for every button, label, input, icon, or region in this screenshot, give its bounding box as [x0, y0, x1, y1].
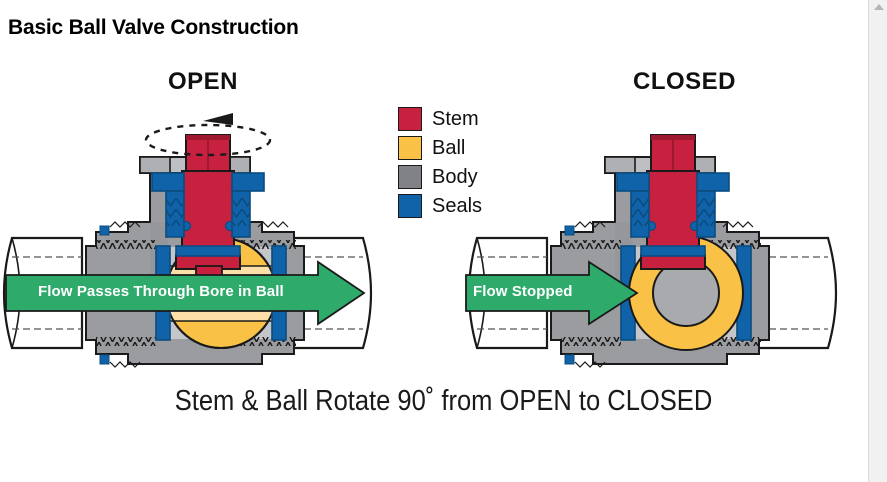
legend-label-seals: Seals: [432, 196, 482, 216]
legend-swatch-seals: [398, 194, 422, 218]
legend-swatch-ball: [398, 136, 422, 160]
state-label-open: OPEN: [168, 68, 238, 96]
legend-label-stem: Stem: [432, 109, 479, 129]
legend-label-body: Body: [432, 167, 478, 187]
valve-closed: [466, 135, 836, 367]
legend-item-seals: Seals: [398, 194, 482, 218]
page-title: Basic Ball Valve Construction: [8, 16, 299, 40]
scroll-up-arrow-icon[interactable]: [874, 4, 884, 10]
legend-swatch-body: [398, 165, 422, 189]
stem-open: [176, 135, 240, 290]
flow-label-open: Flow Passes Through Bore in Ball: [38, 283, 284, 300]
legend-item-ball: Ball: [398, 136, 482, 160]
state-label-closed: CLOSED: [633, 68, 736, 96]
legend-label-ball: Ball: [432, 138, 465, 158]
caption-text: Stem & Ball Rotate 90˚ from OPEN to CLOS…: [53, 385, 834, 418]
legend-swatch-stem: [398, 107, 422, 131]
scrollbar[interactable]: [868, 0, 887, 482]
legend-item-body: Body: [398, 165, 482, 189]
legend-item-stem: Stem: [398, 107, 482, 131]
valve-open: [4, 113, 371, 367]
slide-canvas: Basic Ball Valve Construction OPEN CLOSE…: [0, 0, 887, 482]
flow-label-closed: Flow Stopped: [473, 283, 573, 300]
legend: Stem Ball Body Seals: [398, 107, 482, 218]
